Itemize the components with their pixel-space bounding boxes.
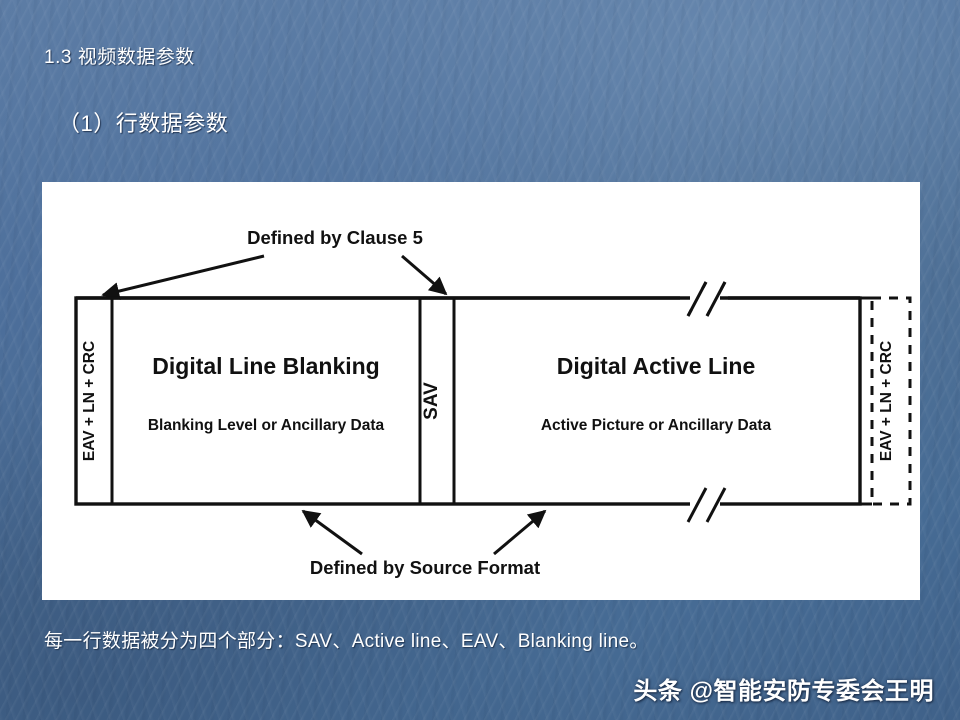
source-format-left-arrow	[303, 511, 362, 554]
clause5-right-arrow	[402, 256, 446, 294]
eav-left-label: EAV + LN + CRC	[81, 341, 98, 461]
digital-line-blanking-label: Digital Line Blanking	[152, 353, 379, 379]
line-data-structure-diagram: Defined by Clause 5 EAV + LN + CRC SAV D…	[42, 182, 920, 600]
eav-right-label: EAV + LN + CRC	[878, 341, 895, 461]
watermark-label: 头条 @智能安防专委会王明	[633, 671, 934, 706]
figure-panel: Defined by Clause 5 EAV + LN + CRC SAV D…	[42, 182, 920, 600]
source-format-right-arrow	[494, 511, 545, 554]
slide-canvas: 1.3 视频数据参数 （1）行数据参数 Defined by Clause 5 …	[0, 0, 960, 720]
bottom-annotation-label: Defined by Source Format	[310, 557, 540, 578]
slide-title: 1.3 视频数据参数	[44, 42, 195, 69]
slide-caption: 每一行数据被分为四个部分：SAV、Active line、EAV、Blankin…	[44, 626, 649, 653]
clause5-left-arrow	[103, 256, 264, 295]
top-annotation-label: Defined by Clause 5	[247, 227, 423, 248]
slide-subtitle: （1）行数据参数	[58, 106, 228, 138]
sav-label: SAV	[421, 382, 442, 420]
digital-active-line-label: Digital Active Line	[557, 353, 756, 379]
digital-active-line-sublabel: Active Picture or Ancillary Data	[541, 417, 772, 434]
digital-line-blanking-sublabel: Blanking Level or Ancillary Data	[148, 417, 385, 434]
line-structure-outer-box	[76, 298, 860, 504]
